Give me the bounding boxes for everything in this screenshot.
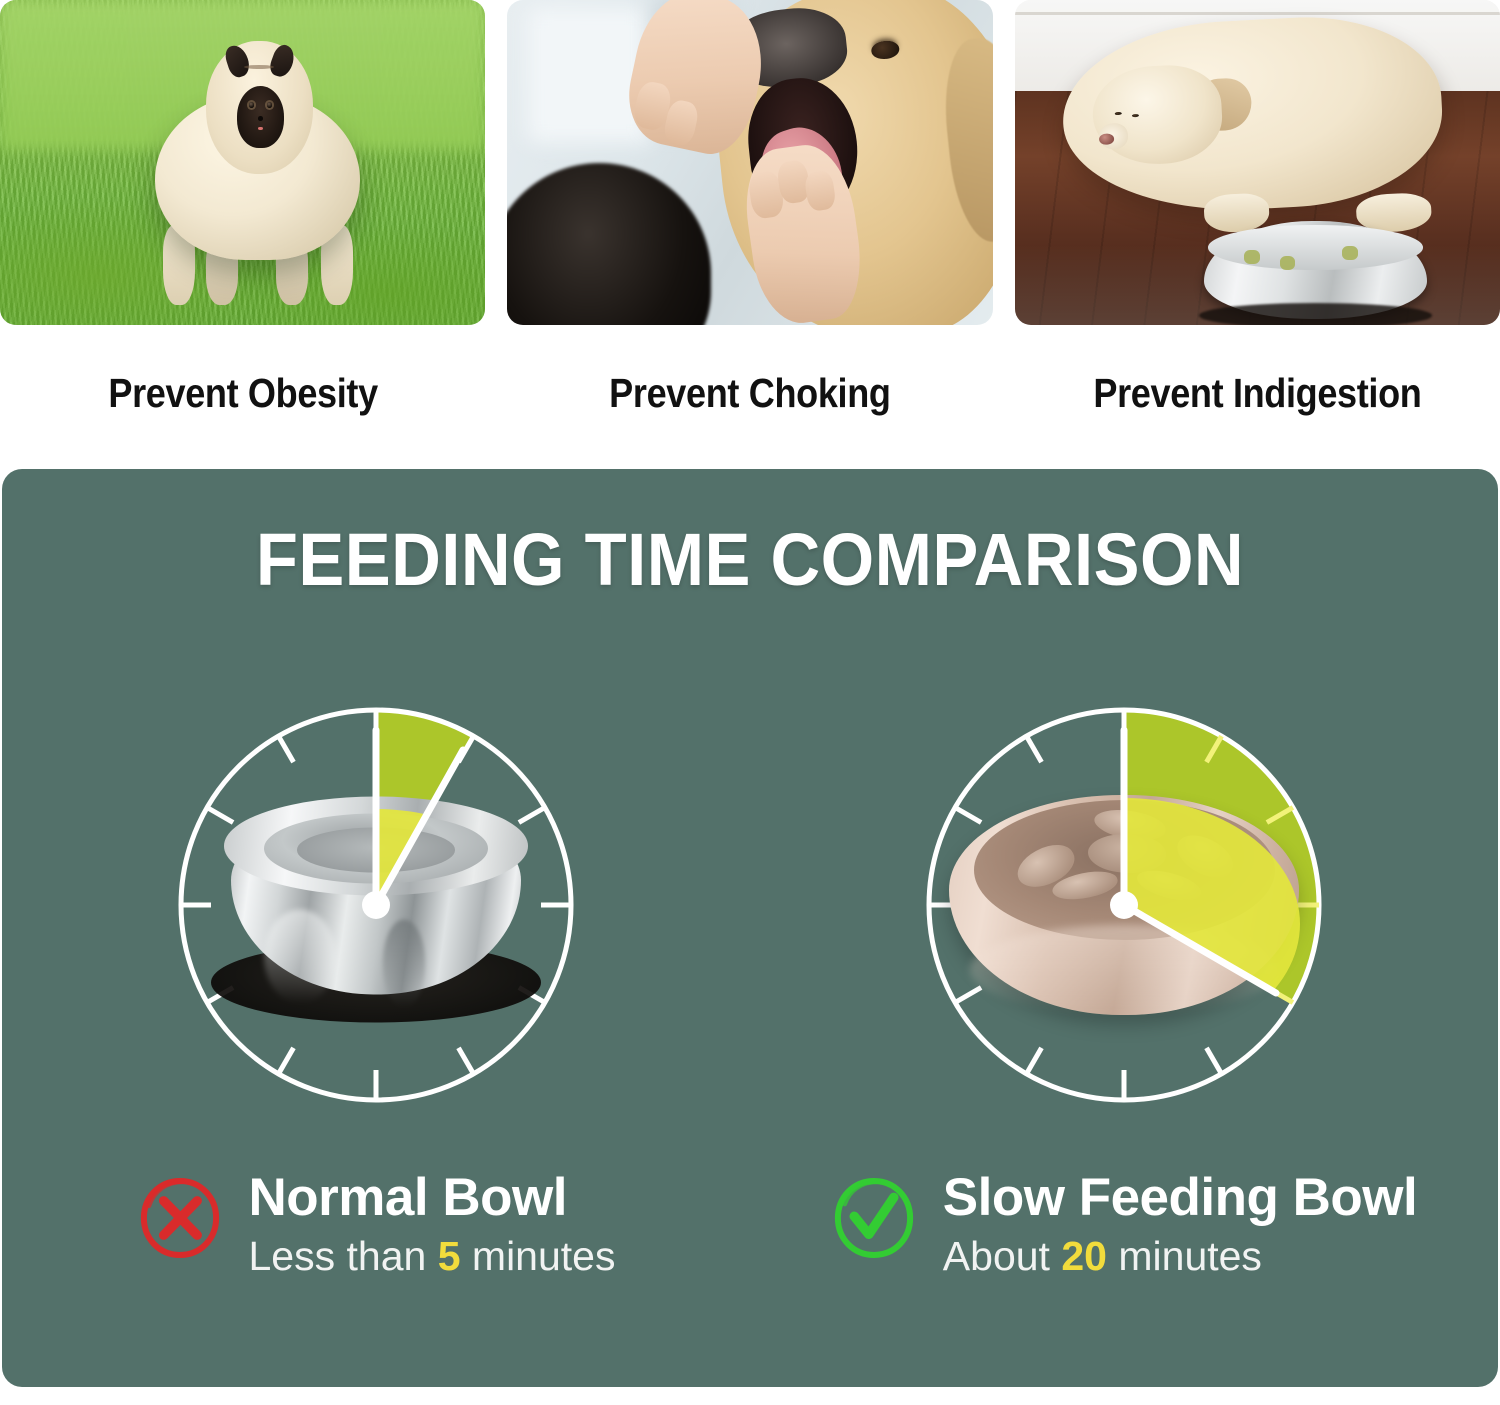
- result-subtitle-slow-feeding-bowl: About 20 minutes: [943, 1232, 1417, 1281]
- result-sub-prefix-normal: Less than: [249, 1233, 427, 1279]
- normal-bowl-image: [211, 788, 541, 1023]
- caption-prevent-obesity: Prevent Obesity: [108, 370, 377, 417]
- clock-slow-feeding-bowl: [903, 684, 1345, 1126]
- result-sub-suffix-slow: minutes: [1118, 1233, 1262, 1279]
- caption-cell-choking: Prevent Choking: [507, 338, 992, 448]
- slow-feeding-bowl-image: [949, 780, 1299, 1030]
- result-text-slow-feeding-bowl: Slow Feeding Bowl About 20 minutes: [943, 1169, 1417, 1281]
- check-circle-icon: [831, 1175, 917, 1261]
- result-minutes-normal: 5: [438, 1233, 461, 1279]
- result-sub-prefix-slow: About: [943, 1233, 1050, 1279]
- clock-normal-bowl: [155, 684, 597, 1126]
- clock-column-normal-bowl: [2, 684, 750, 1154]
- benefit-caption-row: Prevent Obesity Prevent Choking Prevent …: [0, 338, 1500, 448]
- caption-cell-indigestion: Prevent Indigestion: [1015, 338, 1500, 448]
- x-circle-icon: [137, 1175, 223, 1261]
- result-normal-bowl: Normal Bowl Less than 5 minutes: [2, 1169, 750, 1339]
- result-label-row: Normal Bowl Less than 5 minutes Slow Fee…: [2, 1169, 1498, 1339]
- panel-title: FEEDING TIME COMPARISON: [54, 517, 1445, 602]
- result-text-normal-bowl: Normal Bowl Less than 5 minutes: [249, 1169, 616, 1281]
- caption-cell-obesity: Prevent Obesity: [0, 338, 485, 448]
- result-title-slow-feeding-bowl: Slow Feeding Bowl: [943, 1169, 1417, 1226]
- clock-comparison-row: [2, 684, 1498, 1154]
- benefit-photo-strip: [0, 0, 1500, 325]
- benefit-photo-prevent-choking: [507, 0, 992, 325]
- clock-column-slow-feeding-bowl: [750, 684, 1498, 1154]
- result-title-normal-bowl: Normal Bowl: [249, 1169, 616, 1226]
- result-minutes-slow: 20: [1061, 1233, 1107, 1279]
- infographic-page: Prevent Obesity Prevent Choking Prevent …: [0, 0, 1500, 1405]
- result-slow-feeding-bowl: Slow Feeding Bowl About 20 minutes: [750, 1169, 1498, 1339]
- benefit-photo-prevent-indigestion: [1015, 0, 1500, 325]
- steel-bowl-illustration: [1204, 221, 1427, 319]
- benefit-photo-prevent-obesity: [0, 0, 485, 325]
- feeding-time-comparison-panel: FEEDING TIME COMPARISON: [2, 469, 1498, 1387]
- pug-dog-illustration: [150, 36, 364, 303]
- result-sub-suffix-normal: minutes: [472, 1233, 616, 1279]
- caption-prevent-indigestion: Prevent Indigestion: [1093, 370, 1421, 417]
- result-subtitle-normal-bowl: Less than 5 minutes: [249, 1232, 616, 1281]
- caption-prevent-choking: Prevent Choking: [609, 370, 890, 417]
